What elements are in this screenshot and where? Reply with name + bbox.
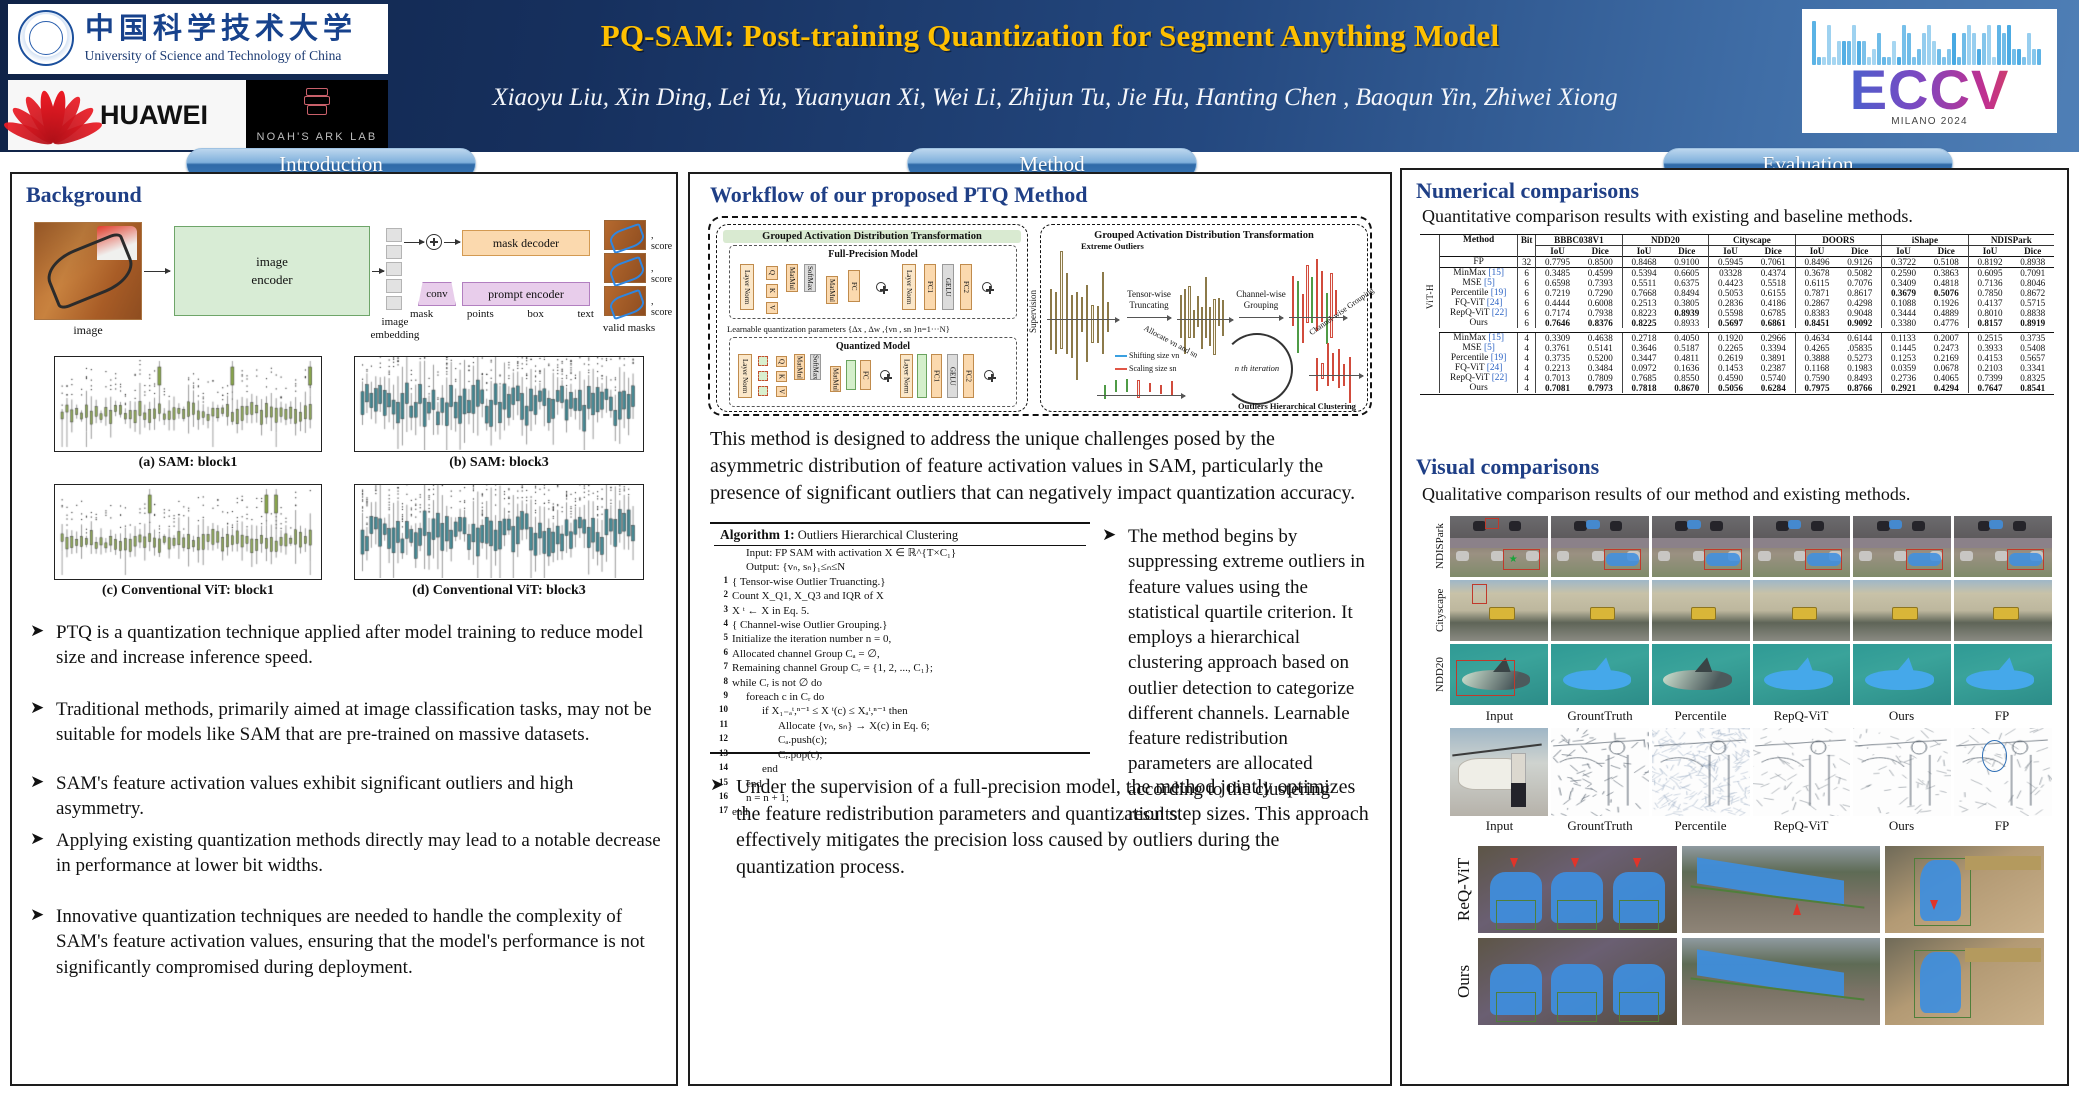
table-cell-value: 0.2007	[1925, 332, 1968, 343]
table-cell-value: 0.2718	[1622, 332, 1665, 343]
table-row: Percentile [19]60.72190.72900.76680.8494…	[1420, 288, 2054, 298]
workflow-left-title: Grouped Activation Distribution Transfor…	[723, 230, 1021, 243]
table-cell-value: 0.8468	[1622, 257, 1665, 268]
arrow-step2	[1239, 317, 1283, 318]
table-cell-value: 0.5598	[1709, 308, 1752, 318]
bullet-text: Applying existing quantization methods d…	[56, 828, 664, 879]
table-cell-value: 0.3863	[1925, 268, 1968, 279]
algorithm-line-number: 10	[714, 704, 732, 718]
huawei-flower-icon	[14, 86, 92, 144]
list-item: ➤ Innovative quantization techniques are…	[30, 904, 664, 980]
table-cell-bit: 4	[1518, 363, 1536, 373]
algorithm-line: 12Cₐ.push(c);	[714, 733, 1086, 747]
table-cell-value: 0.2867	[1795, 298, 1838, 308]
table-cell-value: 0.9100	[1665, 257, 1708, 268]
visual-comparison-image	[1652, 644, 1750, 705]
table-cell-value: 0.3888	[1795, 353, 1838, 363]
table-cell-value: 0.9126	[1838, 257, 1881, 268]
list-item: ➤ Under the supervision of a full-precis…	[710, 774, 1370, 880]
visual-comparison-image	[1753, 728, 1851, 816]
table-cell-value: 0.7850	[1968, 288, 2011, 298]
panel-method: Workflow of our proposed PTQ Method Grou…	[688, 172, 1392, 1086]
visual-row-label: ReQ-ViT	[1454, 846, 1474, 933]
table-cell-value: 0.1983	[1838, 363, 1881, 373]
citation-ref: [5]	[1484, 278, 1495, 288]
score-label-2: , score	[651, 263, 672, 285]
table-cell-value: 0.6144	[1838, 332, 1881, 343]
visual-comparison-image	[1954, 580, 2052, 641]
table-cell-value: 0.8157	[1968, 318, 2011, 328]
list-item: ➤ Applying existing quantization methods…	[30, 828, 664, 879]
quantized-model-box: Quantized Model Layer Norm Q K V MatMul …	[729, 337, 1017, 407]
iteration-label: n th iteration	[1223, 363, 1291, 373]
table-header-blank	[1518, 246, 1536, 257]
table-header-dataset: NDISPark	[1968, 235, 2054, 246]
sam-sum-node-icon	[426, 234, 442, 250]
bullet-arrow-icon: ➤	[30, 697, 56, 748]
visual-comparison-image	[1753, 644, 1851, 705]
sam-prompt-inputs: mask points box text	[410, 308, 594, 320]
algorithm-line-text: foreach c in Cᵣ do	[732, 690, 1086, 704]
table-bottom-rule	[1420, 393, 2054, 395]
table-header-datasets: MethodBitBBBC038V1NDD20CityscapeDOORSiSh…	[1420, 235, 2054, 246]
table-cell-value: 0.8010	[1968, 308, 2011, 318]
citation-ref: [19]	[1491, 353, 1507, 363]
score-label-1: , score	[651, 230, 672, 252]
ustc-name-en: University of Science and Technology of …	[85, 48, 342, 64]
table-cell-value: 0.4050	[1665, 332, 1708, 343]
table-cell-value: 0.2265	[1709, 343, 1752, 353]
visual-comparison-image	[1853, 516, 1951, 577]
table-header-metric: Dice	[1665, 246, 1708, 257]
table-cell-value: 0.1088	[1882, 298, 1925, 308]
table-cell-value: 0.5141	[1579, 343, 1622, 353]
table-cell-value: 0.5394	[1622, 268, 1665, 279]
table-cell-value: 0.7081	[1536, 383, 1579, 393]
table-header-metric: Dice	[1752, 246, 1795, 257]
table-cell-value: 0.1920	[1709, 332, 1752, 343]
visual-comparison-image	[1954, 728, 2052, 816]
table-cell-value: 0.7393	[1579, 278, 1622, 288]
sam-input-image-thumb	[34, 222, 142, 320]
score-label-3: , score	[651, 296, 672, 318]
table-cell-value: 0.4776	[1925, 318, 1968, 328]
table-cell-value: 0.3341	[2011, 363, 2054, 373]
huawei-wordmark: HUAWEI	[100, 100, 208, 131]
list-item: ➤ PTQ is a quantization technique applie…	[30, 620, 664, 671]
visual-row-label: NDISPark	[1432, 516, 1448, 577]
arrow-embedding-to-sum	[404, 242, 424, 243]
table-cell-value: 0.4423	[1709, 278, 1752, 288]
table-row: Percentile [19]40.37350.52000.34470.4811…	[1420, 353, 2054, 363]
table-cell-value: 0.8933	[1665, 318, 1708, 328]
table-cell-value: 0.2387	[1752, 363, 1795, 373]
algorithm-line: 10if X₁₋ₐᵗ,ⁿ⁻¹ ≤ X ᵗ(c) ≤ Xₐᵗ,ⁿ⁻¹ then	[714, 704, 1086, 718]
table-cell-value: 0.2836	[1709, 298, 1752, 308]
table-spacer	[1420, 373, 1440, 383]
algorithm-line-number	[714, 546, 732, 560]
table-cell-value: 0.8541	[2011, 383, 2054, 393]
table-cell-value: 0.4265	[1795, 343, 1838, 353]
visual-comparison-image: ★	[1450, 516, 1548, 577]
algorithm-line-number	[714, 560, 732, 574]
table-spacer	[1420, 257, 1440, 268]
citation-ref: [5]	[1484, 343, 1495, 353]
algorithm-line: Output: {vₙ, sₙ}₁≤ₙ≤N	[714, 560, 1086, 574]
table-cell-value: 0.7290	[1579, 288, 1622, 298]
table-cell-value: 0.3409	[1882, 278, 1925, 288]
table-header: MethodBitBBBC038V1NDD20CityscapeDOORSiSh…	[1420, 235, 2054, 257]
citation-ref: [22]	[1492, 308, 1508, 318]
table-cell-value: 0.5053	[1709, 288, 1752, 298]
visual-comparison-image	[1682, 938, 1881, 1025]
table-row: MSE [5]40.37610.51410.36460.51870.22650.…	[1420, 343, 2054, 353]
axis-1	[1047, 319, 1119, 320]
algorithm-line: 4{ Channel-wise Outlier Grouping.}	[714, 618, 1086, 632]
quantized-model-title: Quantized Model	[730, 341, 1016, 352]
algorithm-line-text: Output: {vₙ, sₙ}₁≤ₙ≤N	[732, 560, 1086, 574]
table-cell-value: 0.2473	[1925, 343, 1968, 353]
noahs-ark-lab-logo: NOAH'S ARK LAB	[246, 80, 388, 150]
table-cell-value: 0.7938	[1579, 308, 1622, 318]
table-cell-value: 0.4634	[1795, 332, 1838, 343]
table-cell-value: 0.8376	[1579, 318, 1622, 328]
poster-title: PQ-SAM: Post-training Quantization for S…	[400, 18, 1700, 54]
table-row: MinMax [15]40.33090.46380.27180.40500.19…	[1420, 332, 2054, 343]
table-cell-value: 0.6598	[1536, 278, 1579, 288]
table-cell-value: 0.8550	[1665, 373, 1708, 383]
algorithm-line-text: { Channel-wise Outlier Grouping.}	[732, 618, 1086, 632]
workflow-right-title: Grouped Activation Distribution Transfor…	[1041, 230, 1367, 241]
table-cell-value: 0.7668	[1622, 288, 1665, 298]
table-cell-method: MSE [5]	[1440, 278, 1518, 288]
table-cell-value: 0.2213	[1536, 363, 1579, 373]
panel-evaluation: Numerical comparisons Quantitative compa…	[1400, 168, 2069, 1086]
bullet-arrow-icon: ➤	[30, 620, 56, 671]
table-cell-bit: 32	[1518, 257, 1536, 268]
results-table: MethodBitBBBC038V1NDD20CityscapeDOORSiSh…	[1420, 234, 2054, 395]
bullet-arrow-icon: ➤	[30, 771, 56, 822]
boxplot-vit-block3	[354, 484, 644, 580]
table-cell-value: 0.6861	[1752, 318, 1795, 328]
visual-col-label: GrountTruth	[1551, 818, 1650, 834]
table-row: RepQ-ViT [22]60.71740.79380.82230.89390.…	[1420, 308, 2054, 318]
partner-logos: HUAWEI NOAH'S ARK LAB	[8, 80, 388, 150]
table-cell-value: 0.5715	[2011, 298, 2054, 308]
algorithm-line-number: 6	[714, 647, 732, 661]
table-cell-method: RepQ-ViT [22]	[1440, 308, 1518, 318]
noahs-ark-wordmark: NOAH'S ARK LAB	[257, 131, 378, 143]
table-cell-value: 0.2515	[1968, 332, 2011, 343]
table-cell-value: 0.2590	[1882, 268, 1925, 279]
distribution-plot-original	[1047, 251, 1117, 383]
table-cell-value: 0.8838	[2011, 308, 2054, 318]
algorithm-title-text: Outliers Hierarchical Clustering	[798, 528, 958, 542]
ustc-name-cn: 中国科学技术大学	[85, 15, 357, 44]
table-cell-value: 0.7091	[2011, 268, 2054, 279]
table-cell-value: 0.7871	[1795, 288, 1838, 298]
table-header-metric: Dice	[1838, 246, 1881, 257]
table-header-metric: Dice	[1579, 246, 1622, 257]
table-cell-value: 0.2513	[1622, 298, 1665, 308]
table-row: RepQ-ViT [22]40.70130.78090.76850.85500.…	[1420, 373, 2054, 383]
list-item: ➤ SAM's feature activation values exhibi…	[30, 771, 664, 822]
table-cell-value: 0.3485	[1536, 268, 1579, 279]
table-cell-value: 0.4638	[1579, 332, 1622, 343]
algorithm-line: 2Count X_Q1, X_Q3 and IQR of X	[714, 589, 1086, 603]
table-cell-value: 0.8496	[1795, 257, 1838, 268]
bullet-arrow-icon: ➤	[30, 904, 56, 980]
table-cell-value: 0.4444	[1536, 298, 1579, 308]
poster-header: 中国科学技术大学 University of Science and Techn…	[0, 0, 2079, 152]
table-cell-value: 0.6284	[1752, 383, 1795, 393]
algorithm-line: 13Cᵣ.pop(c);	[714, 748, 1086, 762]
huawei-logo: HUAWEI	[8, 80, 246, 150]
table-row: Ours 60.76460.83760.82250.89330.56970.68…	[1420, 318, 2054, 328]
table-row: Ours 40.70810.79730.78180.86700.50560.62…	[1420, 383, 2054, 393]
table-header-metric: Dice	[2011, 246, 2054, 257]
sam-image-embedding-tokens	[386, 228, 402, 313]
table-cell-value: 0.8192	[1968, 257, 2011, 268]
arrow-encoder-to-embedding	[372, 271, 384, 272]
table-cell-value: 03328	[1709, 268, 1752, 279]
table-cell-value: 0.2619	[1709, 353, 1752, 363]
table-cell-value: 0.8383	[1795, 308, 1838, 318]
affiliation-logos: 中国科学技术大学 University of Science and Techn…	[8, 4, 388, 150]
visual-comparison-image	[1753, 580, 1851, 641]
table-cell-value: 0.6785	[1752, 308, 1795, 318]
table-cell-value: 0.8225	[1622, 318, 1665, 328]
table-corner	[1420, 246, 1440, 257]
table-body: FP 320.77950.85000.84680.91000.59450.706…	[1420, 257, 2054, 395]
table-cell-value: 0.6155	[1752, 288, 1795, 298]
algorithm-line-text: { Tensor-wise Outlier Truancting.}	[732, 575, 1086, 589]
table-cell-value: 0.4137	[1968, 298, 2011, 308]
table-cell-value: 0.3761	[1536, 343, 1579, 353]
table-cell-value: 0.8494	[1665, 288, 1708, 298]
table-cell-value: 0.4374	[1752, 268, 1795, 279]
algorithm-line-text: if X₁₋ₐᵗ,ⁿ⁻¹ ≤ X ᵗ(c) ≤ Xₐᵗ,ⁿ⁻¹ then	[732, 704, 1086, 718]
visual-row-label: Ours	[1454, 938, 1474, 1025]
table-cell-value: 0.5408	[2011, 343, 2054, 353]
supervision-label: Supervision	[1028, 290, 1038, 333]
table-cell-bit: 6	[1518, 308, 1536, 318]
background-bullet-list: ➤ PTQ is a quantization technique applie…	[30, 606, 664, 980]
visual-comparison-image	[1450, 644, 1548, 705]
table-cell-value: 0.3394	[1752, 343, 1795, 353]
table-cell-method: FQ-ViT [24]	[1440, 298, 1518, 308]
table-cell-value: 0.8938	[2011, 257, 2054, 268]
table-cell-value: 0.5740	[1752, 373, 1795, 383]
table-cell-value: 0.0359	[1882, 363, 1925, 373]
table-group-label: ViT-H	[1420, 268, 1440, 329]
table-cell-bit: 4	[1518, 343, 1536, 353]
table-header-metric: IoU	[1709, 246, 1752, 257]
visual-col-label: Percentile	[1651, 818, 1750, 834]
poster-authors: Xiaoyu Liu, Xin Ding, Lei Yu, Yuanyuan X…	[400, 84, 1710, 112]
algorithm-line: Input: FP SAM with activation X ∈ ℝ^{T×C…	[714, 546, 1086, 560]
table-cell-value: 0.5082	[1838, 268, 1881, 279]
visual-comparison-image	[1551, 516, 1649, 577]
table-cell-value: 0.3735	[2011, 332, 2054, 343]
table-header-metric: IoU	[1968, 246, 2011, 257]
table-cell-value: 0.4590	[1709, 373, 1752, 383]
axis-4	[1097, 395, 1185, 396]
algorithm-line: 11Allocate {vₙ, sₙ} → X(c) in Eq. 6;	[714, 719, 1086, 733]
sam-output-mask-2: , score	[604, 253, 646, 283]
table-cell-value: 0.5945	[1709, 257, 1752, 268]
table-cell-value: 0.5697	[1709, 318, 1752, 328]
visual-grid-mid	[1450, 728, 2052, 816]
table-cell-bit: 4	[1518, 373, 1536, 383]
table-cell-value: 0.7399	[1968, 373, 2011, 383]
prompt-input-text: text	[577, 308, 594, 320]
table-cell-method: MinMax [15]	[1440, 268, 1518, 279]
boxplot-caption-a: (a) SAM: block1	[54, 455, 322, 471]
table-cell-value: 0.3722	[1882, 257, 1925, 268]
bullet-arrow-icon: ➤	[30, 828, 56, 879]
table-cell-method: MinMax [15]	[1440, 332, 1518, 343]
full-precision-model-title: Full-Precision Model	[730, 249, 1016, 260]
visual-col-label: RepQ-ViT	[1752, 818, 1851, 834]
sam-architecture-figure: image imageencoder imageembedding mask d…	[34, 216, 658, 344]
shifting-size-label: Shifting size vn	[1129, 351, 1179, 360]
algorithm-box: Algorithm 1: Outliers Hierarchical Clust…	[710, 522, 1090, 754]
table-cell-value: 0.7975	[1795, 383, 1838, 393]
visual-col-label: GrountTruth	[1551, 708, 1650, 724]
table-cell-value: 0.3933	[1968, 343, 2011, 353]
list-item: ➤ Traditional methods, primarily aimed a…	[30, 697, 664, 748]
table-header-metric: IoU	[1882, 246, 1925, 257]
visual-col-label: Ours	[1852, 818, 1951, 834]
table-header-dataset: BBBC038V1	[1536, 235, 1623, 246]
table-corner	[1420, 235, 1440, 246]
algorithm-line-number: 12	[714, 733, 732, 747]
boxplot-sam-block1	[54, 356, 322, 452]
eccv-logo: ECCV MILANO 2024	[1802, 9, 2057, 133]
algorithm-line-number: 1	[714, 575, 732, 589]
algorithm-line: 8while Cᵣ is not ∅ do	[714, 676, 1086, 690]
table-cell-value: 0.1453	[1709, 363, 1752, 373]
table-cell-value: 0.2966	[1752, 332, 1795, 343]
table-cell-value: 0.8670	[1665, 383, 1708, 393]
table-cell-method: Percentile [19]	[1440, 288, 1518, 298]
visual-comparison-image	[1682, 846, 1881, 933]
sam-output-mask-1: , score	[604, 220, 646, 250]
table-cell-value: 0.2169	[1925, 353, 1968, 363]
visual-comparison-image	[1853, 580, 1951, 641]
table-cell-value: 0.1253	[1882, 353, 1925, 363]
table-cell-value: 0.5511	[1622, 278, 1665, 288]
table-spacer	[1420, 332, 1440, 343]
visual-comparison-image	[1853, 728, 1951, 816]
ustc-seal-icon	[18, 10, 74, 66]
table-cell-value: 0.7136	[1968, 278, 2011, 288]
table-cell-value: 0.1445	[1882, 343, 1925, 353]
table-cell-value: 0.8493	[1838, 373, 1881, 383]
table-cell-value: 0.5076	[1925, 288, 1968, 298]
table-cell-value: 0.4186	[1752, 298, 1795, 308]
table-cell-value: 0.8500	[1579, 257, 1622, 268]
table-cell-value: 0.6008	[1579, 298, 1622, 308]
visual-comparison-image	[1450, 728, 1548, 816]
table-cell-value: 0.3380	[1882, 318, 1925, 328]
numerical-comparisons-heading: Numerical comparisons	[1416, 178, 1639, 204]
table-cell-value: 0.1133	[1882, 332, 1925, 343]
algorithm-line-text: while Cᵣ is not ∅ do	[732, 676, 1086, 690]
sam-prompt-encoder-block: prompt encoder	[462, 282, 590, 306]
table-row-bottom-rule	[1420, 393, 2054, 395]
table-cell-value: .05835	[1838, 343, 1881, 353]
table-header-dataset: DOORS	[1795, 235, 1882, 246]
table-cell-value: 0.7219	[1536, 288, 1579, 298]
algorithm-line-text: Cₐ.push(c);	[732, 733, 1086, 747]
table-cell-method: Ours	[1440, 383, 1518, 393]
table-spacer	[1420, 343, 1440, 353]
table-cell-value: 0.2103	[1968, 363, 2011, 373]
algorithm-line-text: Input: FP SAM with activation X ∈ ℝ^{T×C…	[732, 546, 1086, 560]
table-spacer	[1420, 383, 1440, 393]
table-header-blank	[1440, 246, 1518, 257]
table-cell-value: 0.6605	[1665, 268, 1708, 279]
table-cell-method: RepQ-ViT [22]	[1440, 373, 1518, 383]
numerical-comparisons-desc: Quantitative comparison results with exi…	[1422, 206, 1913, 227]
table-row: FQ-ViT [24]60.44440.60080.25130.38050.28…	[1420, 298, 2054, 308]
axis-2	[1177, 319, 1233, 320]
table-cell-value: 0.3444	[1882, 308, 1925, 318]
algorithm-line-number: 11	[714, 719, 732, 733]
table-cell-value: 0.3805	[1665, 298, 1708, 308]
table-cell-value: 0.5200	[1579, 353, 1622, 363]
algorithm-line-text: Remaining channel Group Cᵣ = {1, 2, ...,…	[732, 661, 1086, 675]
table-spacer	[1420, 363, 1440, 373]
algorithm-line: 7Remaining channel Group Cᵣ = {1, 2, ...…	[714, 661, 1086, 675]
boxplot-caption-d: (d) Conventional ViT: block3	[354, 583, 644, 599]
table-cell-value: 0.4065	[1925, 373, 1968, 383]
workflow-left-panel: Grouped Activation Distribution Transfor…	[716, 224, 1028, 412]
table-cell-value: 0.3484	[1579, 363, 1622, 373]
visual-comparison-image	[1954, 644, 2052, 705]
table-cell-value: 0.3679	[1882, 288, 1925, 298]
citation-ref: [24]	[1487, 298, 1503, 308]
sam-conv-block: conv	[418, 282, 456, 306]
visual-grid-top: ★	[1450, 516, 2052, 705]
visual-grid-bottom	[1478, 846, 2044, 1025]
visual-row-label: Cityscape	[1432, 580, 1448, 641]
visual-comparison-image	[1853, 644, 1951, 705]
table-cell-bit: 4	[1518, 383, 1536, 393]
eccv-wordmark: ECCV	[1802, 57, 2057, 122]
visual-comparison-image	[1885, 938, 2044, 1025]
workflow-heading: Workflow of our proposed PTQ Method	[710, 182, 1088, 208]
table-cell-value: 0.8451	[1795, 318, 1838, 328]
prompt-input-box: box	[527, 308, 544, 320]
table-cell-value: 0.1636	[1665, 363, 1708, 373]
table-cell-value: 0.2736	[1882, 373, 1925, 383]
visual-col-label: Ours	[1852, 708, 1951, 724]
citation-ref: [19]	[1491, 288, 1507, 298]
distribution-plot-shifted	[1101, 373, 1187, 403]
table-cell-value: 0.8325	[2011, 373, 2054, 383]
table-cell-value: 0.5518	[1752, 278, 1795, 288]
scaling-size-label: Scaling size sn	[1129, 364, 1177, 373]
bullet-text: SAM's feature activation values exhibit …	[56, 771, 664, 822]
visual-col-label: Percentile	[1651, 708, 1750, 724]
algorithm-line-number: 3	[714, 604, 732, 618]
table-cell-method: MSE [5]	[1440, 343, 1518, 353]
citation-ref: [15]	[1488, 333, 1504, 343]
table-cell-method: FQ-ViT [24]	[1440, 363, 1518, 373]
